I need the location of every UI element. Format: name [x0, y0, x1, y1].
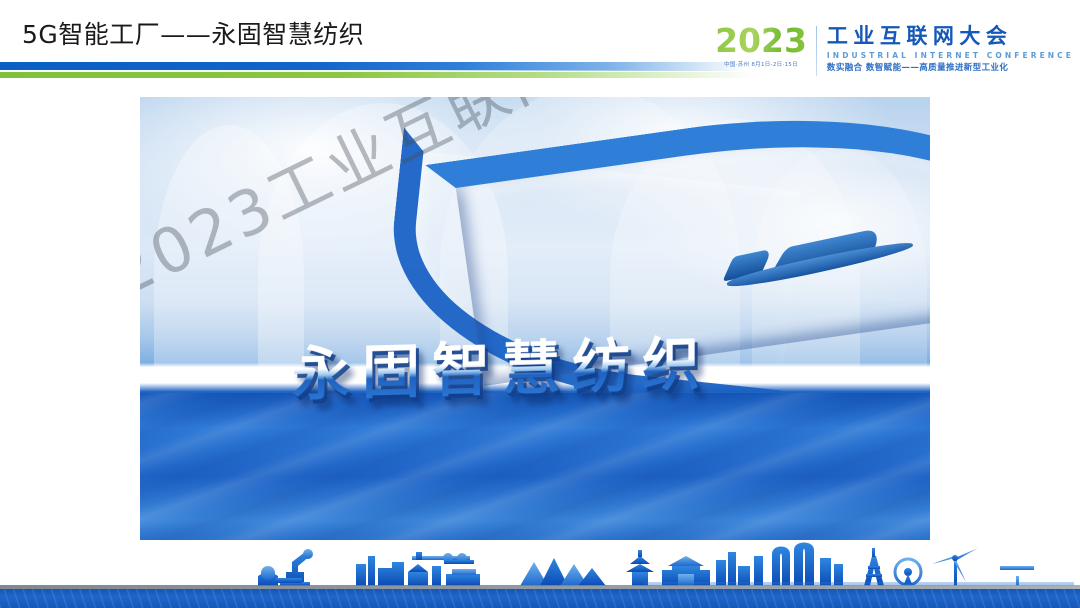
conference-name-cn: 工业互联网大会	[827, 24, 1074, 48]
slide-header: 5G智能工厂——永固智慧纺织 2023 中国·苏州 8月1日-2日·15日 工业…	[0, 0, 1080, 88]
blue-silk-fabric	[140, 393, 930, 540]
video-still-image[interactable]: 永固智慧纺织 2023工业互联网大会	[140, 97, 930, 540]
conference-logo: 2023 中国·苏州 8月1日-2日·15日 工业互联网大会 INDUSTRIA…	[715, 24, 1074, 82]
footer-skyline-icon	[0, 542, 1080, 586]
slide-footer	[0, 544, 1080, 608]
logo-text-block: 工业互联网大会 INDUSTRIAL INTERNET CONFERENCE 数…	[817, 24, 1074, 73]
conference-name-en: INDUSTRIAL INTERNET CONFERENCE	[827, 51, 1074, 60]
logo-date-location: 中国·苏州 8月1日-2日·15日	[724, 62, 798, 69]
video-headline: 永固智慧纺织	[292, 332, 712, 407]
slide-root: 5G智能工厂——永固智慧纺织 2023 中国·苏州 8月1日-2日·15日 工业…	[0, 0, 1080, 608]
footer-blue-band	[0, 589, 1080, 608]
logo-year: 2023	[715, 24, 807, 57]
page-title: 5G智能工厂——永固智慧纺织	[22, 18, 364, 52]
logo-year-block: 2023 中国·苏州 8月1日-2日·15日	[715, 24, 816, 69]
header-divider-green	[0, 72, 755, 78]
conference-slogan: 数实融合 数智赋能——高质量推进新型工业化	[827, 63, 1074, 73]
